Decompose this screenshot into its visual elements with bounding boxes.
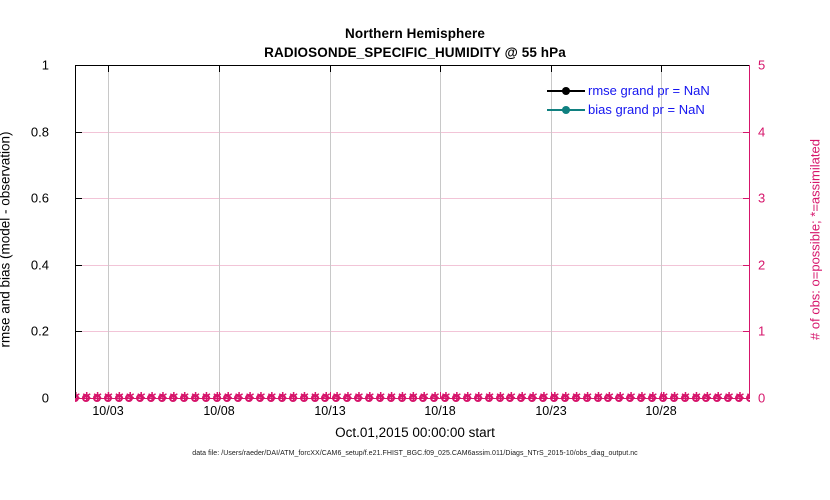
y-tick-label-right: 1 [758, 324, 778, 339]
y-tick-label-right: 4 [758, 125, 778, 140]
axis-spine-left [75, 65, 76, 399]
chart-legend: rmse grand pr = NaNbias grand pr = NaN [547, 79, 737, 121]
axis-spine-top [75, 65, 750, 66]
x-tick-label: 10/08 [203, 404, 234, 418]
tick-mark-left [76, 331, 82, 332]
legend-label: bias grand pr = NaN [585, 102, 705, 117]
tick-mark-top [330, 66, 331, 72]
chart-title-line-2: RADIOSONDE_SPECIFIC_HUMIDITY @ 55 hPa [0, 43, 830, 62]
x-tick-label: 10/03 [92, 404, 123, 418]
legend-dot-icon [562, 87, 570, 95]
y-tick-label-left: 1 [9, 58, 49, 73]
y-tick-label-right: 5 [758, 58, 778, 73]
y-tick-label-left: 0.4 [9, 258, 49, 273]
chart-title-block: Northern Hemisphere RADIOSONDE_SPECIFIC_… [0, 24, 830, 62]
y-tick-label-right: 0 [758, 391, 778, 406]
gridline-vertical [108, 65, 109, 399]
y-tick-label-left: 0.2 [9, 324, 49, 339]
legend-marker-icon [547, 103, 585, 117]
data-file-footer: data file: /Users/raeder/DAI/ATM_forcXX/… [0, 450, 830, 457]
legend-item[interactable]: bias grand pr = NaN [547, 100, 737, 119]
tick-mark-left [76, 132, 82, 133]
legend-dot-icon [562, 106, 570, 114]
gridline-vertical [440, 65, 441, 399]
tick-mark-top [108, 66, 109, 72]
y-tick-label-left: 0 [9, 391, 49, 406]
y-tick-label-left: 0.8 [9, 125, 49, 140]
x-tick-label: 10/23 [535, 404, 566, 418]
gridline-horizontal [75, 132, 750, 133]
tick-mark-top [551, 66, 552, 72]
x-tick-label: 10/13 [314, 404, 345, 418]
axis-spine-bottom [75, 398, 750, 399]
tick-mark-top [440, 66, 441, 72]
tick-mark-top [661, 66, 662, 72]
legend-item[interactable]: rmse grand pr = NaN [547, 81, 737, 100]
gridline-vertical [330, 65, 331, 399]
x-tick-label: 10/18 [424, 404, 455, 418]
gridline-horizontal [75, 265, 750, 266]
y-tick-label-right: 3 [758, 191, 778, 206]
gridline-horizontal [75, 331, 750, 332]
axis-spine-right [749, 65, 750, 399]
legend-label: rmse grand pr = NaN [585, 83, 710, 98]
y-tick-label-left: 0.6 [9, 191, 49, 206]
tick-mark-left [76, 198, 82, 199]
legend-marker-icon [547, 84, 585, 98]
gridline-vertical [219, 65, 220, 399]
tick-mark-top [219, 66, 220, 72]
x-tick-label: 10/28 [645, 404, 676, 418]
y-tick-label-right: 2 [758, 258, 778, 273]
chart-title-line-1: Northern Hemisphere [0, 24, 830, 43]
gridline-horizontal [75, 198, 750, 199]
tick-mark-left [76, 265, 82, 266]
x-axis-label: Oct.01,2015 00:00:00 start [0, 425, 830, 440]
